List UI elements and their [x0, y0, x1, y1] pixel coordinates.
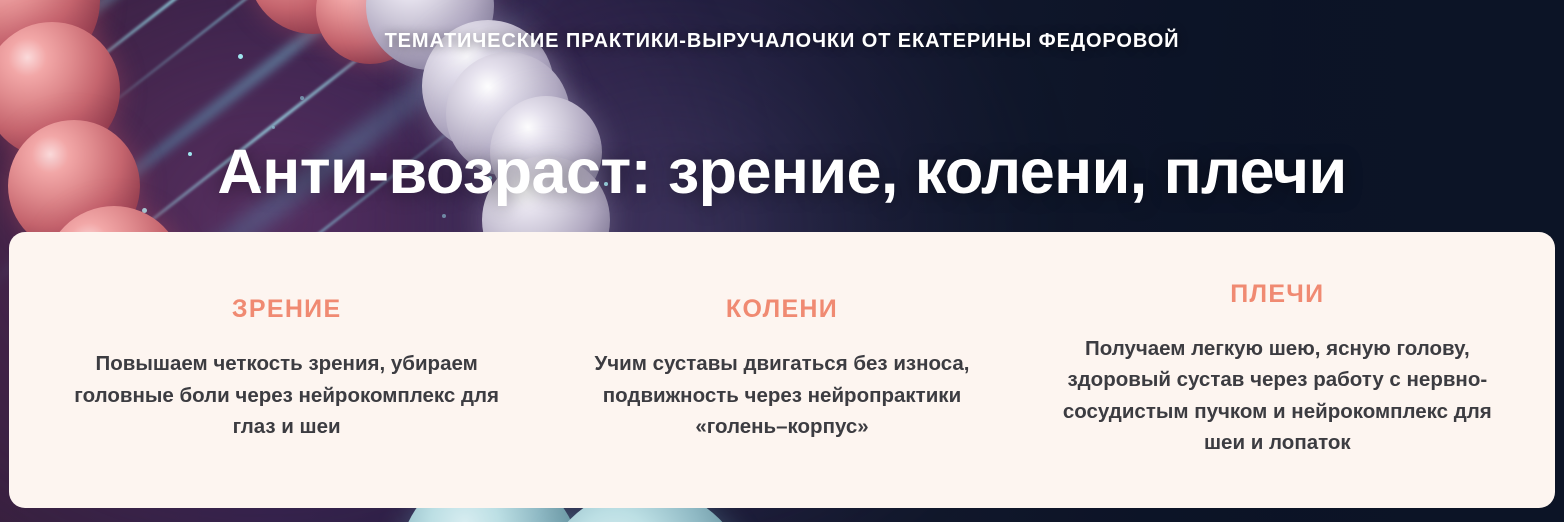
benefit-column-shoulders: ПЛЕЧИ Получаем легкую шею, ясную голову,… [1030, 282, 1525, 458]
hero-banner: ТЕМАТИЧЕСКИЕ ПРАКТИКИ-ВЫРУЧАЛОЧКИ ОТ ЕКА… [0, 0, 1564, 522]
benefit-title-shoulders: ПЛЕЧИ [1046, 282, 1509, 307]
hero-eyebrow: ТЕМАТИЧЕСКИЕ ПРАКТИКИ-ВЫРУЧАЛОЧКИ ОТ ЕКА… [0, 30, 1564, 52]
benefit-body-shoulders: Получаем легкую шею, ясную голову, здоро… [1046, 333, 1509, 458]
benefit-body-vision: Повышаем четкость зрения, убираем головн… [55, 348, 518, 442]
page-title: Анти-возраст: зрение, колени, плечи [0, 138, 1564, 206]
benefits-card: ЗРЕНИЕ Повышаем четкость зрения, убираем… [9, 232, 1555, 508]
benefit-title-knees: КОЛЕНИ [550, 297, 1013, 322]
benefit-title-vision: ЗРЕНИЕ [55, 297, 518, 322]
benefit-body-knees: Учим суставы двигаться без износа, подви… [557, 348, 1007, 442]
benefit-column-knees: КОЛЕНИ Учим суставы двигаться без износа… [534, 297, 1029, 442]
benefit-column-vision: ЗРЕНИЕ Повышаем четкость зрения, убираем… [39, 297, 534, 442]
